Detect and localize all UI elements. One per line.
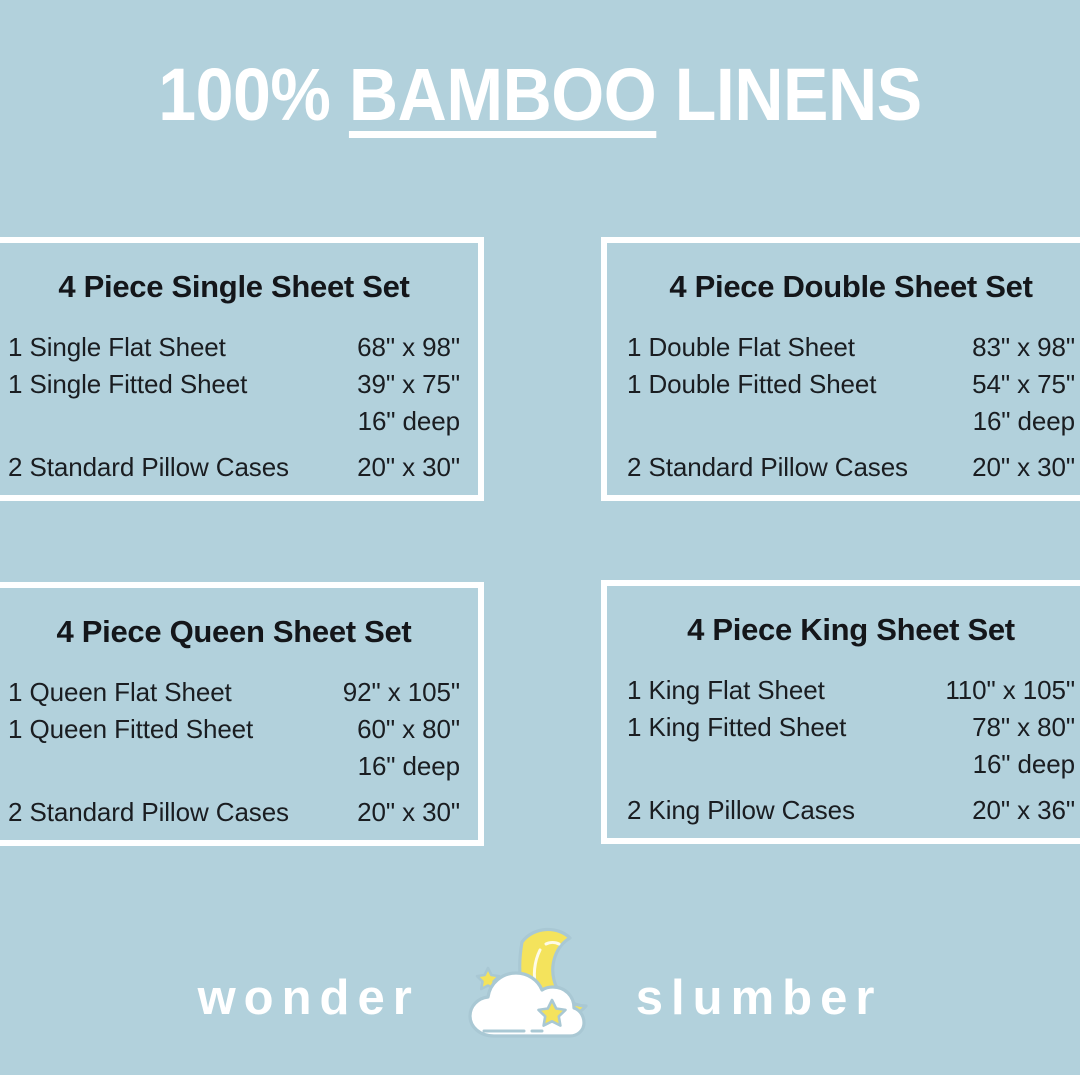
table-row: 16" deep	[8, 403, 460, 440]
table-row: 2 Standard Pillow Cases 20" x 30"	[8, 449, 460, 486]
card-rows: 1 Double Flat Sheet 83" x 98" 1 Double F…	[627, 329, 1075, 486]
row-value: 92" x 105"	[343, 674, 460, 711]
row-value: 83" x 98"	[972, 329, 1075, 366]
card-title: 4 Piece Queen Sheet Set	[8, 614, 460, 650]
table-row: 16" deep	[8, 748, 460, 785]
table-row: 2 King Pillow Cases 20" x 36"	[627, 792, 1075, 829]
table-row: 2 Standard Pillow Cases 20" x 30"	[627, 449, 1075, 486]
brand-wordmark-right: slumber	[636, 974, 883, 1023]
table-row: 1 Double Flat Sheet 83" x 98"	[627, 329, 1075, 366]
card-rows: 1 Queen Flat Sheet 92" x 105" 1 Queen Fi…	[8, 674, 460, 831]
row-label: 1 Double Fitted Sheet	[627, 366, 876, 403]
row-label: 2 Standard Pillow Cases	[627, 449, 908, 486]
page-title: 100% BAMBOO LINENS	[158, 58, 921, 132]
sheet-set-card-double: 4 Piece Double Sheet Set 1 Double Flat S…	[601, 237, 1080, 501]
row-label: 1 King Flat Sheet	[627, 672, 825, 709]
page-title-container: 100% BAMBOO LINENS	[0, 58, 1080, 132]
card-rows: 1 Single Flat Sheet 68" x 98" 1 Single F…	[8, 329, 460, 486]
card-title: 4 Piece King Sheet Set	[627, 612, 1075, 648]
table-row: 16" deep	[627, 746, 1075, 783]
row-value: 39" x 75"	[357, 366, 460, 403]
page-title-suffix: LINENS	[656, 53, 921, 136]
row-value: 20" x 36"	[972, 792, 1075, 829]
table-row: 1 Single Flat Sheet 68" x 98"	[8, 329, 460, 366]
brand-wordmark-left: wonder	[198, 974, 420, 1023]
row-value: 78" x 80"	[972, 709, 1075, 746]
card-title: 4 Piece Double Sheet Set	[627, 269, 1075, 305]
row-value: 68" x 98"	[357, 329, 460, 366]
row-label: 1 Queen Flat Sheet	[8, 674, 232, 711]
card-title: 4 Piece Single Sheet Set	[8, 269, 460, 305]
card-rows: 1 King Flat Sheet 110" x 105" 1 King Fit…	[627, 672, 1075, 829]
sheet-set-card-single: 4 Piece Single Sheet Set 1 Single Flat S…	[0, 237, 484, 501]
card-inner: 4 Piece King Sheet Set 1 King Flat Sheet…	[607, 612, 1080, 864]
table-row: 1 Queen Fitted Sheet 60" x 80"	[8, 711, 460, 748]
row-value: 20" x 30"	[357, 794, 460, 831]
moon-cloud-stars-icon	[460, 924, 602, 1042]
row-value: 20" x 30"	[357, 449, 460, 486]
row-value: 60" x 80"	[357, 711, 460, 748]
row-value: 16" deep	[973, 403, 1075, 440]
card-inner: 4 Piece Queen Sheet Set 1 Queen Flat She…	[0, 614, 478, 866]
row-label: 1 Single Flat Sheet	[8, 329, 226, 366]
table-row: 1 Queen Flat Sheet 92" x 105"	[8, 674, 460, 711]
table-row: 16" deep	[627, 403, 1075, 440]
row-value: 20" x 30"	[972, 449, 1075, 486]
row-label: 2 Standard Pillow Cases	[8, 449, 289, 486]
row-label: 1 King Fitted Sheet	[627, 709, 846, 746]
sheet-set-card-king: 4 Piece King Sheet Set 1 King Flat Sheet…	[601, 580, 1080, 844]
row-value: 16" deep	[358, 748, 460, 785]
sheet-set-card-queen: 4 Piece Queen Sheet Set 1 Queen Flat She…	[0, 582, 484, 846]
page-title-prefix: 100%	[158, 53, 349, 136]
table-row: 1 King Flat Sheet 110" x 105"	[627, 672, 1075, 709]
card-inner: 4 Piece Double Sheet Set 1 Double Flat S…	[607, 269, 1080, 521]
row-label: 1 Queen Fitted Sheet	[8, 711, 253, 748]
table-row: 1 Single Fitted Sheet 39" x 75"	[8, 366, 460, 403]
row-label: 2 King Pillow Cases	[627, 792, 855, 829]
brand-logo: wonder slumber	[0, 920, 1080, 1045]
table-row: 1 King Fitted Sheet 78" x 80"	[627, 709, 1075, 746]
table-row: 2 Standard Pillow Cases 20" x 30"	[8, 794, 460, 831]
table-row: 1 Double Fitted Sheet 54" x 75"	[627, 366, 1075, 403]
row-label: 1 Double Flat Sheet	[627, 329, 855, 366]
row-label: 2 Standard Pillow Cases	[8, 794, 289, 831]
row-value: 16" deep	[358, 403, 460, 440]
row-value: 54" x 75"	[972, 366, 1075, 403]
row-value: 16" deep	[973, 746, 1075, 783]
page-title-highlight: BAMBOO	[349, 53, 656, 136]
row-value: 110" x 105"	[945, 672, 1075, 709]
row-label: 1 Single Fitted Sheet	[8, 366, 247, 403]
card-inner: 4 Piece Single Sheet Set 1 Single Flat S…	[0, 269, 478, 521]
